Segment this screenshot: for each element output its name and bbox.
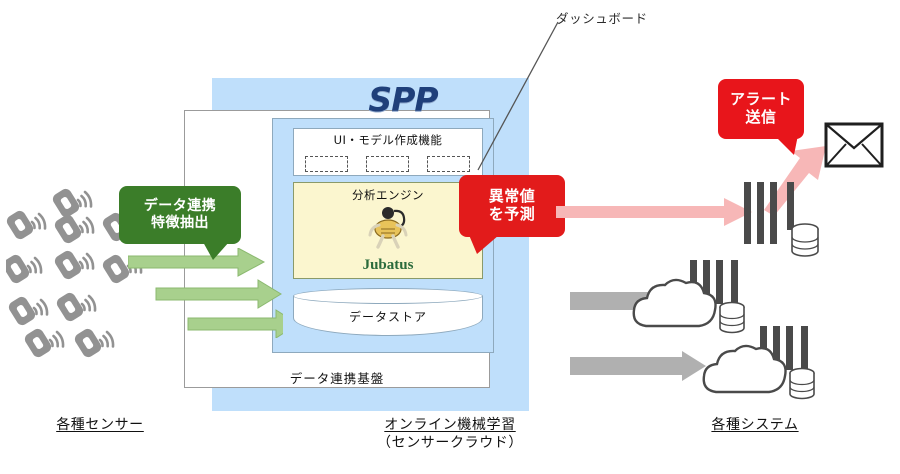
caption-online-ml: オンライン機械学習 （センサークラウド）	[300, 416, 600, 452]
callout-alert-send: アラート 送信	[718, 79, 804, 139]
callout-tail	[203, 242, 229, 260]
jubatus-wordmark: Jubatus	[294, 257, 482, 274]
dashboard-leader-line	[470, 18, 570, 188]
jubatus-mascot-icon	[359, 205, 417, 251]
callout-red-line1: 異常値	[489, 188, 536, 206]
callout-tail	[469, 235, 499, 254]
ui-slot-1[interactable]	[305, 156, 348, 172]
callout-alert-line1: アラート	[730, 91, 792, 109]
datastore-label: データストア	[293, 308, 483, 325]
spp-logo: SPP	[348, 80, 458, 118]
ui-slot-3[interactable]	[427, 156, 470, 172]
system-arrow-2	[570, 351, 710, 383]
diagram-canvas: データ連携 特徴抽出 SPP UI・モデル作成機能 分析エンジン Jubatus…	[0, 0, 900, 474]
callout-alert-line2: 送信	[745, 109, 776, 127]
system-cloud-2	[700, 320, 840, 406]
caption-systems-text: 各種システム	[711, 417, 798, 433]
callout-green-line2: 特徴抽出	[151, 215, 209, 232]
caption-sensors: 各種センサー	[0, 416, 200, 434]
system-servers-1	[740, 182, 830, 262]
caption-online-ml-line2: （センサークラウド）	[377, 435, 523, 451]
callout-red-line2: を予測	[489, 206, 536, 224]
caption-online-ml-line1: オンライン機械学習	[384, 417, 515, 433]
ui-model-builder-box[interactable]: UI・モデル作成機能	[293, 128, 483, 176]
ui-slot-2[interactable]	[366, 156, 409, 172]
envelope-icon	[824, 122, 884, 168]
caption-systems: 各種システム	[640, 416, 870, 434]
datastore-cylinder[interactable]: データストア	[293, 288, 483, 340]
dashboard-annotation-label: ダッシュボード	[556, 8, 648, 27]
database-cylinder-icon	[790, 369, 814, 399]
caption-sensors-text: 各種センサー	[56, 417, 144, 433]
analysis-engine-box[interactable]: 分析エンジン Jubatus	[293, 182, 483, 279]
callout-green-line1: データ連携	[144, 198, 217, 215]
data-ingest-arrows	[128, 248, 283, 338]
platform-caption: データ連携基盤	[184, 368, 490, 387]
cylinder-top	[293, 288, 483, 304]
analysis-engine-label: 分析エンジン	[294, 187, 482, 203]
database-cylinder-icon	[792, 224, 818, 256]
alert-output-arrow	[556, 196, 756, 246]
ui-model-builder-label: UI・モデル作成機能	[294, 132, 482, 148]
callout-tail	[774, 135, 798, 155]
callout-data-integration: データ連携 特徴抽出	[119, 186, 241, 244]
